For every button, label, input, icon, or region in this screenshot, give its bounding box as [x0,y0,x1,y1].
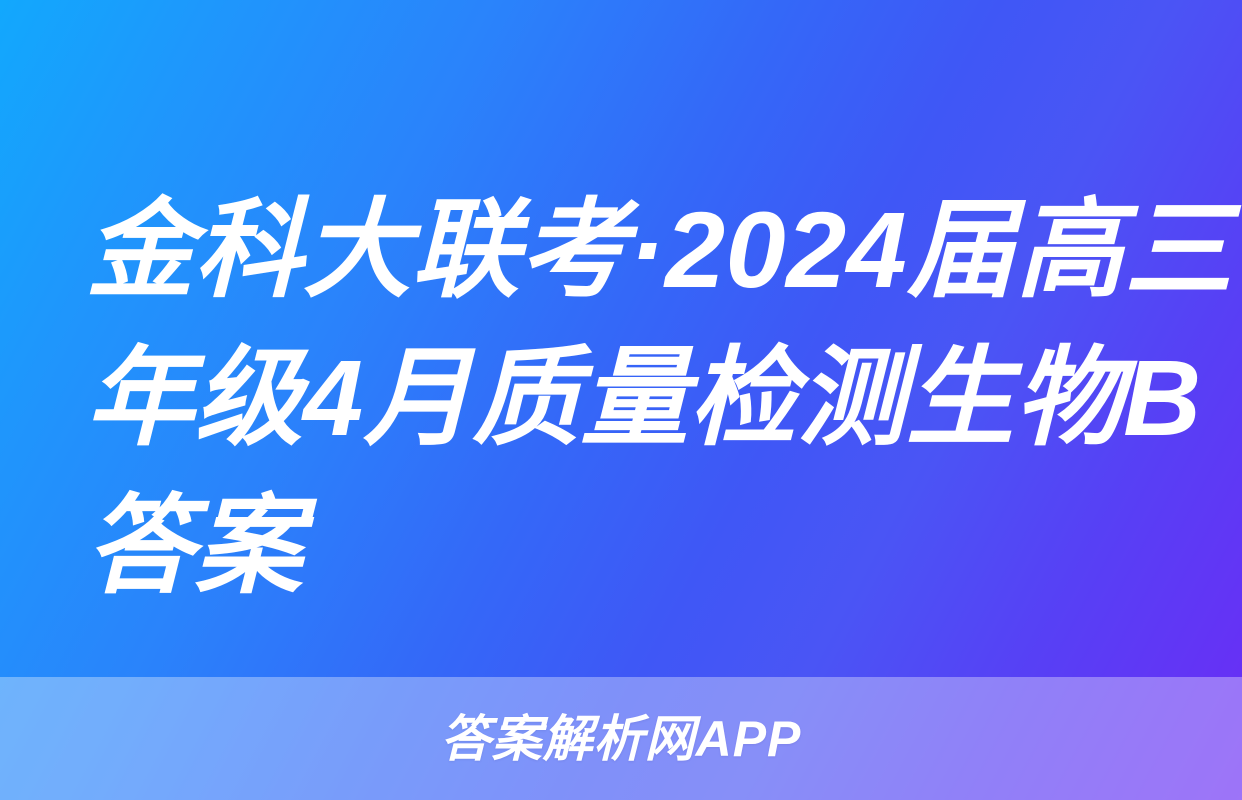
exam-answer-cover: 金科大联考·2024届高三 年级4月质量检测生物B 答案 答案解析网APP [0,0,1242,800]
title-line-3: 答案 [86,472,1164,620]
page-title: 金科大联考·2024届高三 年级4月质量检测生物B 答案 [86,176,1164,620]
watermark-text: 答案解析网APP [441,712,802,766]
watermark-band: 答案解析网APP [0,677,1242,800]
title-line-2: 年级4月质量检测生物B [86,324,1164,472]
title-line-1: 金科大联考·2024届高三 [86,176,1164,324]
